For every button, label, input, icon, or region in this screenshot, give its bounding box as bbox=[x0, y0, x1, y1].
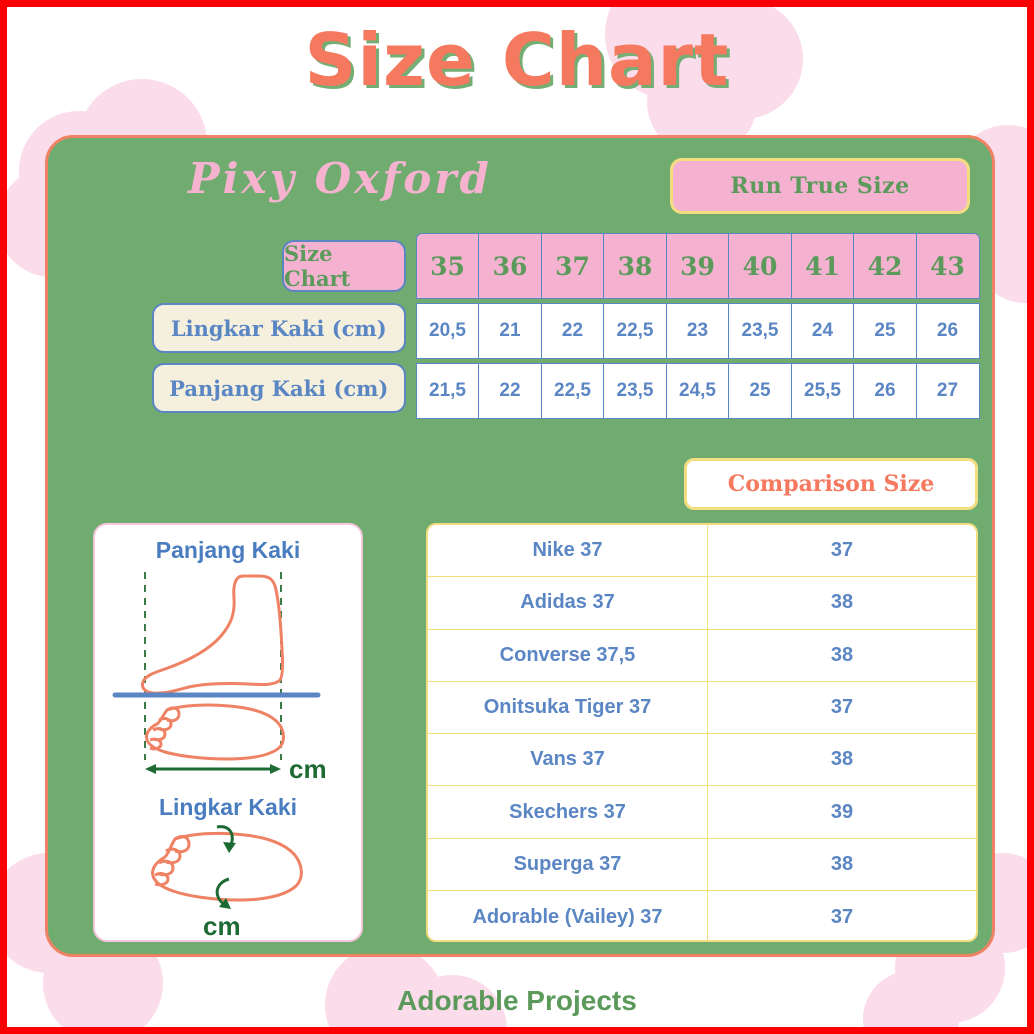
size-table: Size Chart 35 36 37 38 39 40 41 42 43 Li… bbox=[120, 233, 978, 423]
size-value-cell: 24,5 bbox=[666, 363, 730, 419]
comparison-size: 38 bbox=[708, 734, 976, 785]
comparison-brand: Adidas 37 bbox=[428, 577, 708, 628]
comparison-size-title: Comparison Size bbox=[684, 458, 978, 510]
comparison-brand: Adorable (Vailey) 37 bbox=[428, 891, 708, 942]
table-row: Nike 37 37 bbox=[428, 525, 976, 577]
table-row: Converse 37,5 38 bbox=[428, 630, 976, 682]
row-label-panjang-kaki: Panjang Kaki (cm) bbox=[152, 363, 406, 413]
size-header-cell: 39 bbox=[666, 233, 730, 299]
run-true-size-badge: Run True Size bbox=[670, 158, 970, 214]
foot-length-diagram: cm bbox=[103, 564, 353, 786]
run-true-size-label: Run True Size bbox=[730, 173, 909, 199]
comparison-table: Nike 37 37 Adidas 37 38 Converse 37,5 38… bbox=[426, 523, 978, 942]
size-value-cell: 22,5 bbox=[603, 303, 667, 359]
size-value-cell: 24 bbox=[791, 303, 855, 359]
row-values-lingkar-kaki: 20,5 21 22 22,5 23 23,5 24 25 26 bbox=[416, 303, 979, 359]
poster-frame: Size Chart Pixy Oxford Run True Size Siz… bbox=[0, 0, 1034, 1034]
comparison-brand: Nike 37 bbox=[428, 525, 708, 576]
size-value-cell: 22,5 bbox=[541, 363, 605, 419]
comparison-size: 38 bbox=[708, 630, 976, 681]
size-header-cells: 35 36 37 38 39 40 41 42 43 bbox=[416, 233, 979, 299]
size-value-cell: 26 bbox=[916, 303, 980, 359]
comparison-size: 37 bbox=[708, 682, 976, 733]
size-value-cell: 27 bbox=[916, 363, 980, 419]
table-row: Skechers 37 39 bbox=[428, 786, 976, 838]
main-card: Pixy Oxford Run True Size Size Chart 35 … bbox=[45, 135, 995, 957]
size-value-cell: 20,5 bbox=[416, 303, 480, 359]
comparison-size: 38 bbox=[708, 577, 976, 628]
size-value-cell: 25,5 bbox=[791, 363, 855, 419]
size-value-cell: 26 bbox=[853, 363, 917, 419]
comparison-size: 37 bbox=[708, 525, 976, 576]
size-header-cell: 43 bbox=[916, 233, 980, 299]
lingkar-kaki-diagram-title: Lingkar Kaki bbox=[95, 794, 361, 821]
comparison-size: 37 bbox=[708, 891, 976, 942]
size-value-cell: 23 bbox=[666, 303, 730, 359]
measurement-diagram-panel: Panjang Kaki cm bbox=[93, 523, 363, 942]
comparison-size: 39 bbox=[708, 786, 976, 837]
size-value-cell: 22 bbox=[478, 363, 542, 419]
size-value-cell: 23,5 bbox=[603, 363, 667, 419]
size-header-cell: 42 bbox=[853, 233, 917, 299]
table-row: Superga 37 38 bbox=[428, 839, 976, 891]
lingkar-kaki-unit-label: cm bbox=[203, 911, 241, 941]
page-title-container: Size Chart bbox=[7, 21, 1027, 100]
size-table-header-row: Size Chart 35 36 37 38 39 40 41 42 43 bbox=[120, 233, 978, 299]
size-value-cell: 21 bbox=[478, 303, 542, 359]
footer-brand-text: Adorable Projects bbox=[397, 985, 637, 1016]
foot-circumference-diagram: cm bbox=[103, 821, 353, 941]
size-header-cell: 36 bbox=[478, 233, 542, 299]
table-row: Adidas 37 38 bbox=[428, 577, 976, 629]
comparison-size: 38 bbox=[708, 839, 976, 890]
size-chart-corner-label: Size Chart bbox=[282, 240, 406, 292]
row-values-panjang-kaki: 21,5 22 22,5 23,5 24,5 25 25,5 26 27 bbox=[416, 363, 979, 419]
size-value-cell: 23,5 bbox=[728, 303, 792, 359]
size-header-cell: 35 bbox=[416, 233, 480, 299]
size-header-cell: 37 bbox=[541, 233, 605, 299]
size-table-row-lingkar: Lingkar Kaki (cm) 20,5 21 22 22,5 23 23,… bbox=[120, 303, 978, 359]
size-value-cell: 25 bbox=[853, 303, 917, 359]
comparison-brand: Vans 37 bbox=[428, 734, 708, 785]
size-header-cell: 38 bbox=[603, 233, 667, 299]
brand-title: Pixy Oxford bbox=[188, 154, 492, 203]
size-header-cell: 41 bbox=[791, 233, 855, 299]
panjang-kaki-diagram-title: Panjang Kaki bbox=[95, 537, 361, 564]
row-label-lingkar-kaki: Lingkar Kaki (cm) bbox=[152, 303, 406, 353]
comparison-brand: Onitsuka Tiger 37 bbox=[428, 682, 708, 733]
table-row: Vans 37 38 bbox=[428, 734, 976, 786]
table-row: Onitsuka Tiger 37 37 bbox=[428, 682, 976, 734]
size-value-cell: 21,5 bbox=[416, 363, 480, 419]
comparison-brand: Converse 37,5 bbox=[428, 630, 708, 681]
size-value-cell: 22 bbox=[541, 303, 605, 359]
footer: Adorable Projects bbox=[7, 985, 1027, 1017]
page-title: Size Chart bbox=[7, 21, 1027, 100]
size-header-cell: 40 bbox=[728, 233, 792, 299]
size-table-row-panjang: Panjang Kaki (cm) 21,5 22 22,5 23,5 24,5… bbox=[120, 363, 978, 419]
comparison-brand: Skechers 37 bbox=[428, 786, 708, 837]
comparison-brand: Superga 37 bbox=[428, 839, 708, 890]
panjang-kaki-unit-label: cm bbox=[289, 754, 327, 784]
table-row: Adorable (Vailey) 37 37 bbox=[428, 891, 976, 942]
comparison-size-label: Comparison Size bbox=[728, 471, 935, 497]
size-value-cell: 25 bbox=[728, 363, 792, 419]
